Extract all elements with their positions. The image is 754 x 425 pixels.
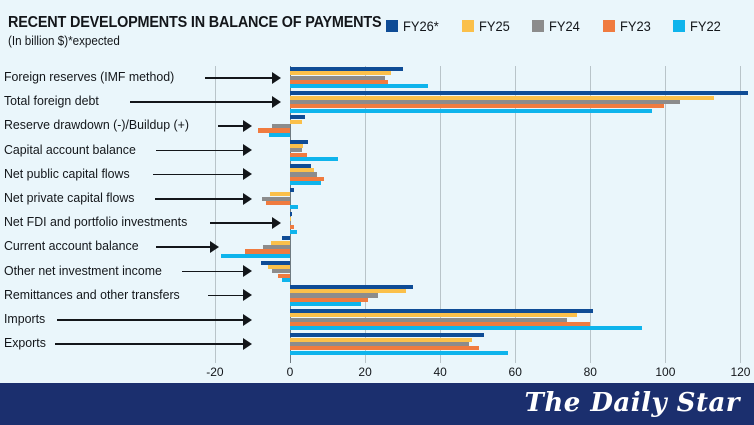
chart-row: Net private capital flows: [0, 188, 754, 212]
bar-group: [0, 115, 754, 139]
legend-swatch-icon: [386, 20, 398, 32]
legend-label: FY22: [690, 18, 721, 34]
bar-fy22: [290, 205, 298, 209]
x-tick-label: 60: [509, 365, 522, 379]
bar-group: [0, 164, 754, 188]
bar-fy22: [221, 254, 290, 258]
chart-subtitle: (In billion $)*expected: [8, 34, 120, 48]
legend-item-fy26: FY26*: [386, 18, 442, 34]
bar-fy25: [290, 120, 302, 124]
legend-item-fy25: FY25: [462, 18, 512, 34]
bar-fy22: [290, 109, 652, 113]
bar-group: [0, 333, 754, 357]
chart-row: Net FDI and portfolio investments: [0, 212, 754, 236]
bar-fy26: [290, 188, 294, 192]
legend-label: FY23: [620, 18, 651, 34]
chart-legend: FY26*FY25FY24FY23FY22: [386, 18, 724, 34]
bar-group: [0, 236, 754, 260]
legend-swatch-icon: [603, 20, 615, 32]
chart-row: Foreign reserves (IMF method): [0, 67, 754, 91]
bar-group: [0, 140, 754, 164]
chart-row: Reserve drawdown (-)/Buildup (+): [0, 115, 754, 139]
bar-group: [0, 285, 754, 309]
bar-group: [0, 309, 754, 333]
bar-group: [0, 91, 754, 115]
bar-group: [0, 212, 754, 236]
bar-fy22: [290, 181, 321, 185]
x-tick-label: 80: [584, 365, 597, 379]
chart-row: Net public capital flows: [0, 164, 754, 188]
bar-fy22: [290, 326, 642, 330]
bar-fy22: [290, 302, 361, 306]
legend-item-fy24: FY24: [532, 18, 582, 34]
chart-row: Total foreign debt: [0, 91, 754, 115]
x-tick-label: 40: [433, 365, 446, 379]
x-tick-label: -20: [206, 365, 223, 379]
bar-fy22: [282, 278, 290, 282]
bar-group: [0, 67, 754, 91]
bar-group: [0, 188, 754, 212]
legend-label: FY26*: [403, 18, 439, 34]
chart-row: Current account balance: [0, 236, 754, 260]
chart-row: Other net investment income: [0, 261, 754, 285]
chart-page: RECENT DEVELOPMENTS IN BALANCE OF PAYMEN…: [0, 0, 754, 425]
chart-row: Imports: [0, 309, 754, 333]
x-tick-label: 100: [655, 365, 675, 379]
bar-group: [0, 261, 754, 285]
bar-fy22: [290, 84, 428, 88]
bar-fy22: [269, 133, 290, 137]
x-tick-label: 20: [358, 365, 371, 379]
chart-row: Exports: [0, 333, 754, 357]
chart-row: Remittances and other transfers: [0, 285, 754, 309]
bar-fy22: [290, 157, 338, 161]
chart-row: Capital account balance: [0, 140, 754, 164]
legend-item-fy23: FY23: [603, 18, 653, 34]
legend-item-fy22: FY22: [673, 18, 723, 34]
chart-plot-area: -20020406080100120 Foreign reserves (IMF…: [0, 66, 754, 366]
legend-label: FY25: [479, 18, 510, 34]
x-tick-label: 0: [287, 365, 294, 379]
daily-star-logo: The Daily Star: [525, 388, 740, 418]
bar-fy22: [290, 351, 508, 355]
page-title: RECENT DEVELOPMENTS IN BALANCE OF PAYMEN…: [8, 14, 381, 32]
bar-fy23: [266, 201, 290, 205]
legend-swatch-icon: [462, 20, 474, 32]
bar-fy22: [290, 230, 297, 234]
x-tick-label: 120: [730, 365, 750, 379]
legend-swatch-icon: [673, 20, 685, 32]
legend-swatch-icon: [532, 20, 544, 32]
legend-label: FY24: [549, 18, 580, 34]
